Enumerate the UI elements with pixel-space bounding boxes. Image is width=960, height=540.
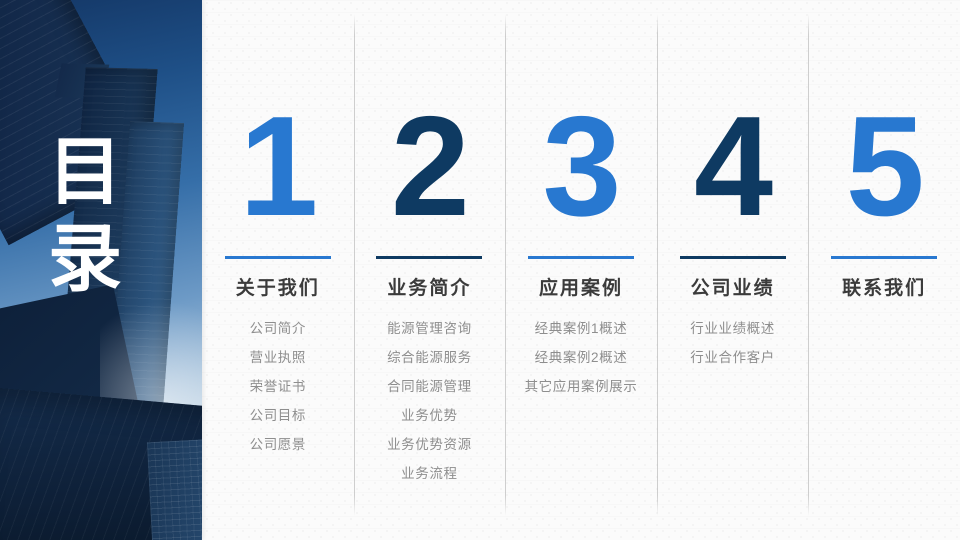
accent-line-1 [225, 256, 331, 259]
toc-column-4[interactable]: 4 公司业绩 行业业绩概述 行业合作客户 [657, 0, 809, 540]
section-title-5[interactable]: 联系我们 [842, 273, 926, 300]
list-item[interactable]: 合同能源管理 [387, 372, 472, 401]
list-item[interactable]: 公司目标 [250, 401, 306, 430]
toc-columns: 1 关于我们 公司简介 营业执照 荣誉证书 公司目标 公司愿景 2 业务简介 能… [202, 0, 960, 540]
section-title-1[interactable]: 关于我们 [236, 273, 320, 300]
toc-column-2[interactable]: 2 业务简介 能源管理咨询 综合能源服务 合同能源管理 业务优势 业务优势资源 … [354, 0, 506, 540]
list-item[interactable]: 经典案例1概述 [535, 314, 628, 343]
accent-line-4 [680, 256, 786, 259]
section-number-3: 3 [542, 96, 619, 238]
list-item[interactable]: 行业合作客户 [690, 343, 775, 372]
cityscape-photo-panel: 目 录 [0, 0, 202, 540]
page-title-line-1: 目 [48, 128, 158, 215]
list-item[interactable]: 业务流程 [401, 459, 457, 488]
section-items-1: 公司简介 营业执照 荣誉证书 公司目标 公司愿景 [250, 314, 306, 459]
accent-line-2 [376, 256, 482, 259]
toc-column-3[interactable]: 3 应用案例 经典案例1概述 经典案例2概述 其它应用案例展示 [505, 0, 657, 540]
toc-column-5[interactable]: 5 联系我们 [808, 0, 960, 540]
list-item[interactable]: 其它应用案例展示 [525, 372, 638, 401]
list-item[interactable]: 综合能源服务 [387, 343, 472, 372]
list-item[interactable]: 营业执照 [250, 343, 306, 372]
page-title-line-2: 录 [48, 215, 158, 302]
list-item[interactable]: 荣誉证书 [250, 372, 306, 401]
section-title-3[interactable]: 应用案例 [539, 273, 623, 300]
section-number-1: 1 [239, 96, 316, 238]
facade-right-bottom [147, 438, 202, 540]
toc-column-1[interactable]: 1 关于我们 公司简介 营业执照 荣誉证书 公司目标 公司愿景 [202, 0, 354, 540]
list-item[interactable]: 业务优势资源 [387, 430, 472, 459]
list-item[interactable]: 行业业绩概述 [690, 314, 775, 343]
slide-root: 目 录 1 关于我们 公司简介 营业执照 荣誉证书 公司目标 公司愿景 2 业务… [0, 0, 960, 540]
page-title: 目 录 [48, 128, 158, 303]
list-item[interactable]: 公司简介 [250, 314, 306, 343]
section-items-2: 能源管理咨询 综合能源服务 合同能源管理 业务优势 业务优势资源 业务流程 [387, 314, 472, 488]
list-item[interactable]: 能源管理咨询 [387, 314, 472, 343]
list-item[interactable]: 经典案例2概述 [535, 343, 628, 372]
section-title-4[interactable]: 公司业绩 [691, 273, 775, 300]
list-item[interactable]: 业务优势 [401, 401, 457, 430]
section-items-3: 经典案例1概述 经典案例2概述 其它应用案例展示 [525, 314, 638, 401]
section-number-5: 5 [846, 96, 923, 238]
section-items-4: 行业业绩概述 行业合作客户 [690, 314, 775, 372]
accent-line-3 [528, 256, 634, 259]
section-number-2: 2 [391, 96, 468, 238]
accent-line-5 [831, 256, 937, 259]
section-title-2[interactable]: 业务简介 [387, 273, 471, 300]
section-number-4: 4 [694, 96, 771, 238]
list-item[interactable]: 公司愿景 [250, 430, 306, 459]
